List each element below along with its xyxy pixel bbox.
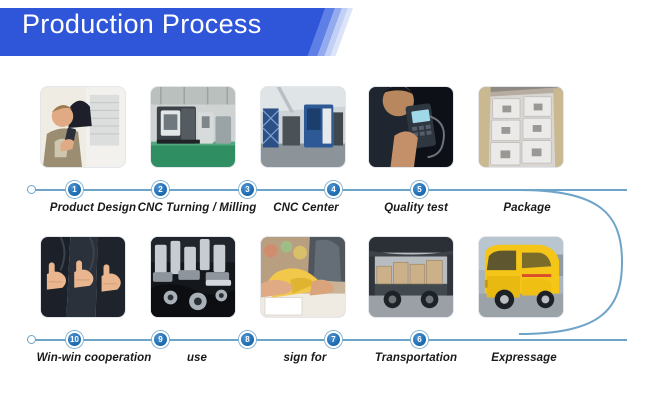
timeline-start-dot-1 [27,185,36,194]
timeline-end-dot-2 [27,335,36,344]
step-label-expressage: Expressage [491,352,557,364]
timeline-row-2: 10 9 8 7 6 [0,332,650,348]
page-title: Production Process [22,9,262,39]
thumbnail-use[interactable] [150,236,236,318]
thumbnail-expressage[interactable] [478,236,564,318]
step-label-cnc-turning-milling: CNC Turning / Milling [138,202,257,214]
step-label-sign-for: sign for [284,352,327,364]
step-label-win-win-cooperation: Win-win cooperation [37,352,152,364]
timeline-labels-row-1: Product Design CNC Turning / Milling CNC… [0,202,650,224]
thumbnail-product-design[interactable] [40,86,126,168]
thumbnail-quality-test[interactable] [368,86,454,168]
thumbnail-win-win-cooperation[interactable] [40,236,126,318]
step-label-quality-test: Quality test [384,202,448,214]
step-node-10[interactable]: 10 [66,331,83,348]
step-label-use: use [187,352,207,364]
thumbnail-package[interactable] [478,86,564,168]
thumbnail-cnc-turning-milling[interactable] [150,86,236,168]
timeline-row-1: 1 2 3 4 5 [0,182,650,198]
infographic-canvas: Production Process [0,0,650,406]
step-node-1[interactable]: 1 [66,181,83,198]
step-label-cnc-center: CNC Center [273,202,339,214]
step-node-8[interactable]: 8 [239,331,256,348]
step-node-7[interactable]: 7 [325,331,342,348]
step-label-product-design: Product Design [50,202,136,214]
row-1-thumbnails [0,86,650,172]
step-node-5[interactable]: 5 [411,181,428,198]
step-node-2[interactable]: 2 [152,181,169,198]
step-label-transportation: Transportation [375,352,457,364]
step-node-9[interactable]: 9 [152,331,169,348]
step-node-6[interactable]: 6 [411,331,428,348]
thumbnail-cnc-center[interactable] [260,86,346,168]
step-node-3[interactable]: 3 [239,181,256,198]
row-2-thumbnails [0,236,650,322]
step-label-package: Package [503,202,550,214]
step-node-4[interactable]: 4 [325,181,342,198]
thumbnail-sign-for[interactable] [260,236,346,318]
thumbnail-transportation[interactable] [368,236,454,318]
timeline-labels-row-2: Win-win cooperation use sign for Transpo… [0,352,650,374]
